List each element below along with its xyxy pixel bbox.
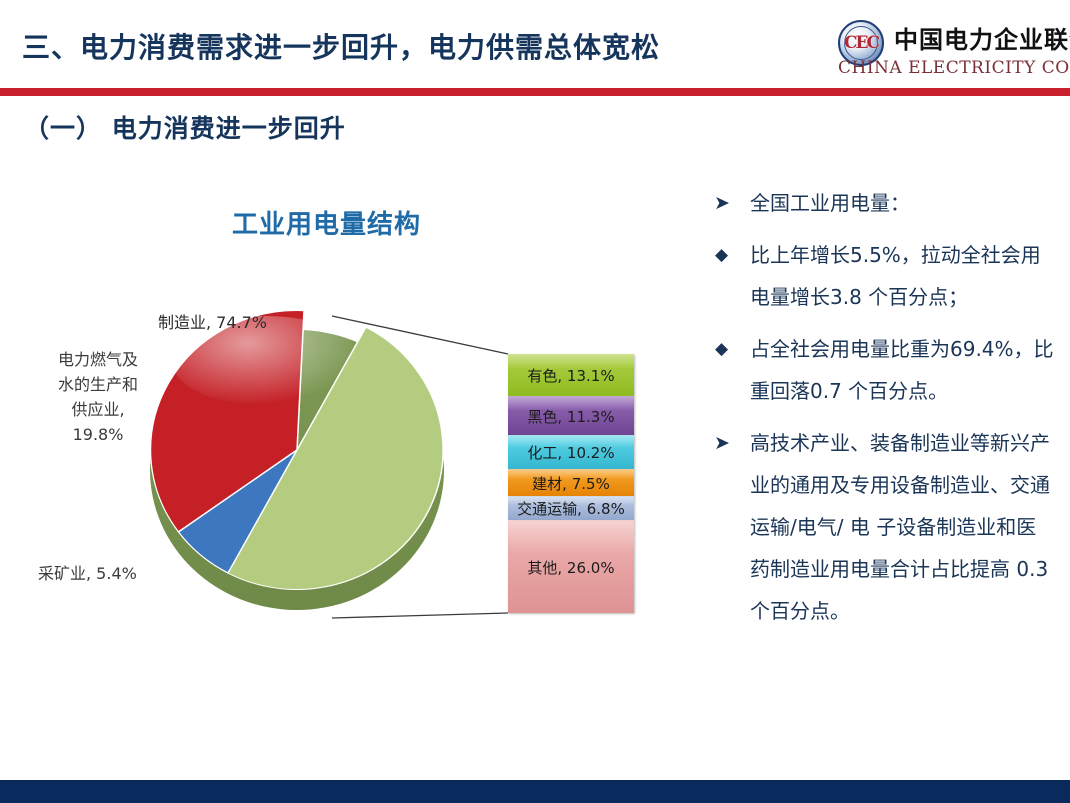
breakout-stacked-bar: 有色, 13.1% 黑色, 11.3% 化工, 10.2% 建材, 7.5% 交… bbox=[508, 354, 634, 613]
bullet-text: 比上年增长5.5%，拉动全社会用电量增长3.8 个百分点； bbox=[750, 243, 1041, 309]
bar-segment-label: 化工, 10.2% bbox=[527, 442, 614, 463]
emblem-letters: CEC bbox=[840, 33, 882, 53]
bar-segment-label: 交通运输, 6.8% bbox=[517, 498, 625, 519]
bar-segment-label: 黑色, 11.3% bbox=[527, 406, 614, 427]
footer-bar bbox=[0, 780, 1070, 803]
bar-segment-transport: 交通运输, 6.8% bbox=[508, 496, 634, 520]
bullet-item-2: ◆ 占全社会用电量比重为69.4%，比重回落0.7 个百分点。 bbox=[706, 328, 1054, 412]
arrow-bullet-icon: ➤ bbox=[714, 422, 730, 464]
chart-area: 工业用电量结构 制造业, 74.7% 电力燃气及水的生产和供应业,19.8% 采… bbox=[0, 170, 680, 690]
logo-name-en: CHINA ELECTRICITY COUNCIL bbox=[838, 58, 1070, 78]
bullet-text: 全国工业用电量： bbox=[750, 191, 910, 215]
arrow-bullet-icon: ➤ bbox=[714, 182, 730, 224]
pie-chart-top bbox=[150, 310, 444, 590]
bar-segment-label: 建材, 7.5% bbox=[532, 473, 610, 494]
bullet-item-0: ➤ 全国工业用电量： bbox=[706, 182, 1054, 224]
chart-title: 工业用电量结构 bbox=[232, 204, 421, 241]
pie-label-manufacturing: 制造业, 74.7% bbox=[158, 309, 267, 333]
bar-segment-other: 其他, 26.0% bbox=[508, 520, 634, 613]
header-divider bbox=[0, 88, 1070, 96]
section-heading: （一） 电力消费进一步回升 bbox=[24, 109, 346, 145]
bar-segment-label: 有色, 13.1% bbox=[527, 365, 614, 386]
bullet-list: ➤ 全国工业用电量： ◆ 比上年增长5.5%，拉动全社会用电量增长3.8 个百分… bbox=[706, 182, 1054, 642]
bullet-text: 高技术产业、装备制造业等新兴产业的通用及专用设备制造业、交通运输/电气/ 电 子… bbox=[750, 431, 1050, 623]
diamond-bullet-icon: ◆ bbox=[715, 234, 728, 276]
diamond-bullet-icon: ◆ bbox=[715, 328, 728, 370]
organization-logo: CEC 中国电力企业联合会 CHINA ELECTRICITY COUNCIL bbox=[838, 18, 1066, 84]
page-title: 三、电力消费需求进一步回升，电力供需总体宽松 bbox=[22, 26, 660, 66]
bar-segment-ferrous: 黑色, 11.3% bbox=[508, 396, 634, 435]
bar-segment-label: 其他, 26.0% bbox=[527, 557, 614, 578]
bullet-item-1: ◆ 比上年增长5.5%，拉动全社会用电量增长3.8 个百分点； bbox=[706, 234, 1054, 318]
pie-chart bbox=[148, 302, 448, 632]
bar-segment-nonferrous: 有色, 13.1% bbox=[508, 354, 634, 396]
bar-segment-building-materials: 建材, 7.5% bbox=[508, 469, 634, 496]
pie-label-power-gas-water: 电力燃气及水的生产和供应业,19.8% bbox=[30, 347, 166, 447]
logo-name-cn: 中国电力企业联合会 bbox=[894, 20, 1070, 55]
slide-header: 三、电力消费需求进一步回升，电力供需总体宽松 CEC 中国电力企业联合会 CHI… bbox=[0, 0, 1070, 96]
pie-label-mining: 采矿业, 5.4% bbox=[38, 560, 137, 584]
bullet-item-3: ➤ 高技术产业、装备制造业等新兴产业的通用及专用设备制造业、交通运输/电气/ 电… bbox=[706, 422, 1054, 632]
bullet-text: 占全社会用电量比重为69.4%，比重回落0.7 个百分点。 bbox=[750, 337, 1054, 403]
bar-segment-chemical: 化工, 10.2% bbox=[508, 435, 634, 469]
